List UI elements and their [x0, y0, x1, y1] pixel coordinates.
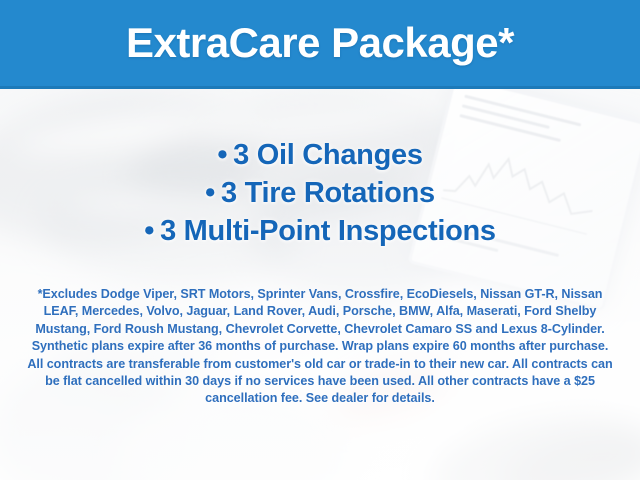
bullet-dot-icon: • — [205, 177, 215, 209]
disclaimer-text: *Excludes Dodge Viper, SRT Motors, Sprin… — [26, 286, 614, 408]
page-title: ExtraCare Package* — [126, 22, 514, 64]
list-item: •3 Multi-Point Inspections — [0, 212, 640, 250]
benefits-list: •3 Oil Changes •3 Tire Rotations •3 Mult… — [0, 136, 640, 250]
list-item: •3 Tire Rotations — [0, 174, 640, 212]
list-item-label: 3 Oil Changes — [233, 139, 423, 171]
extracare-package-poster: ExtraCare Package* •3 Oil Changes •3 Tir… — [0, 0, 640, 480]
list-item-label: 3 Multi-Point Inspections — [160, 215, 496, 247]
bullet-dot-icon: • — [217, 139, 227, 171]
header-banner: ExtraCare Package* — [0, 0, 640, 89]
bullet-dot-icon: • — [144, 215, 154, 247]
list-item-label: 3 Tire Rotations — [221, 177, 435, 209]
list-item: •3 Oil Changes — [0, 136, 640, 174]
